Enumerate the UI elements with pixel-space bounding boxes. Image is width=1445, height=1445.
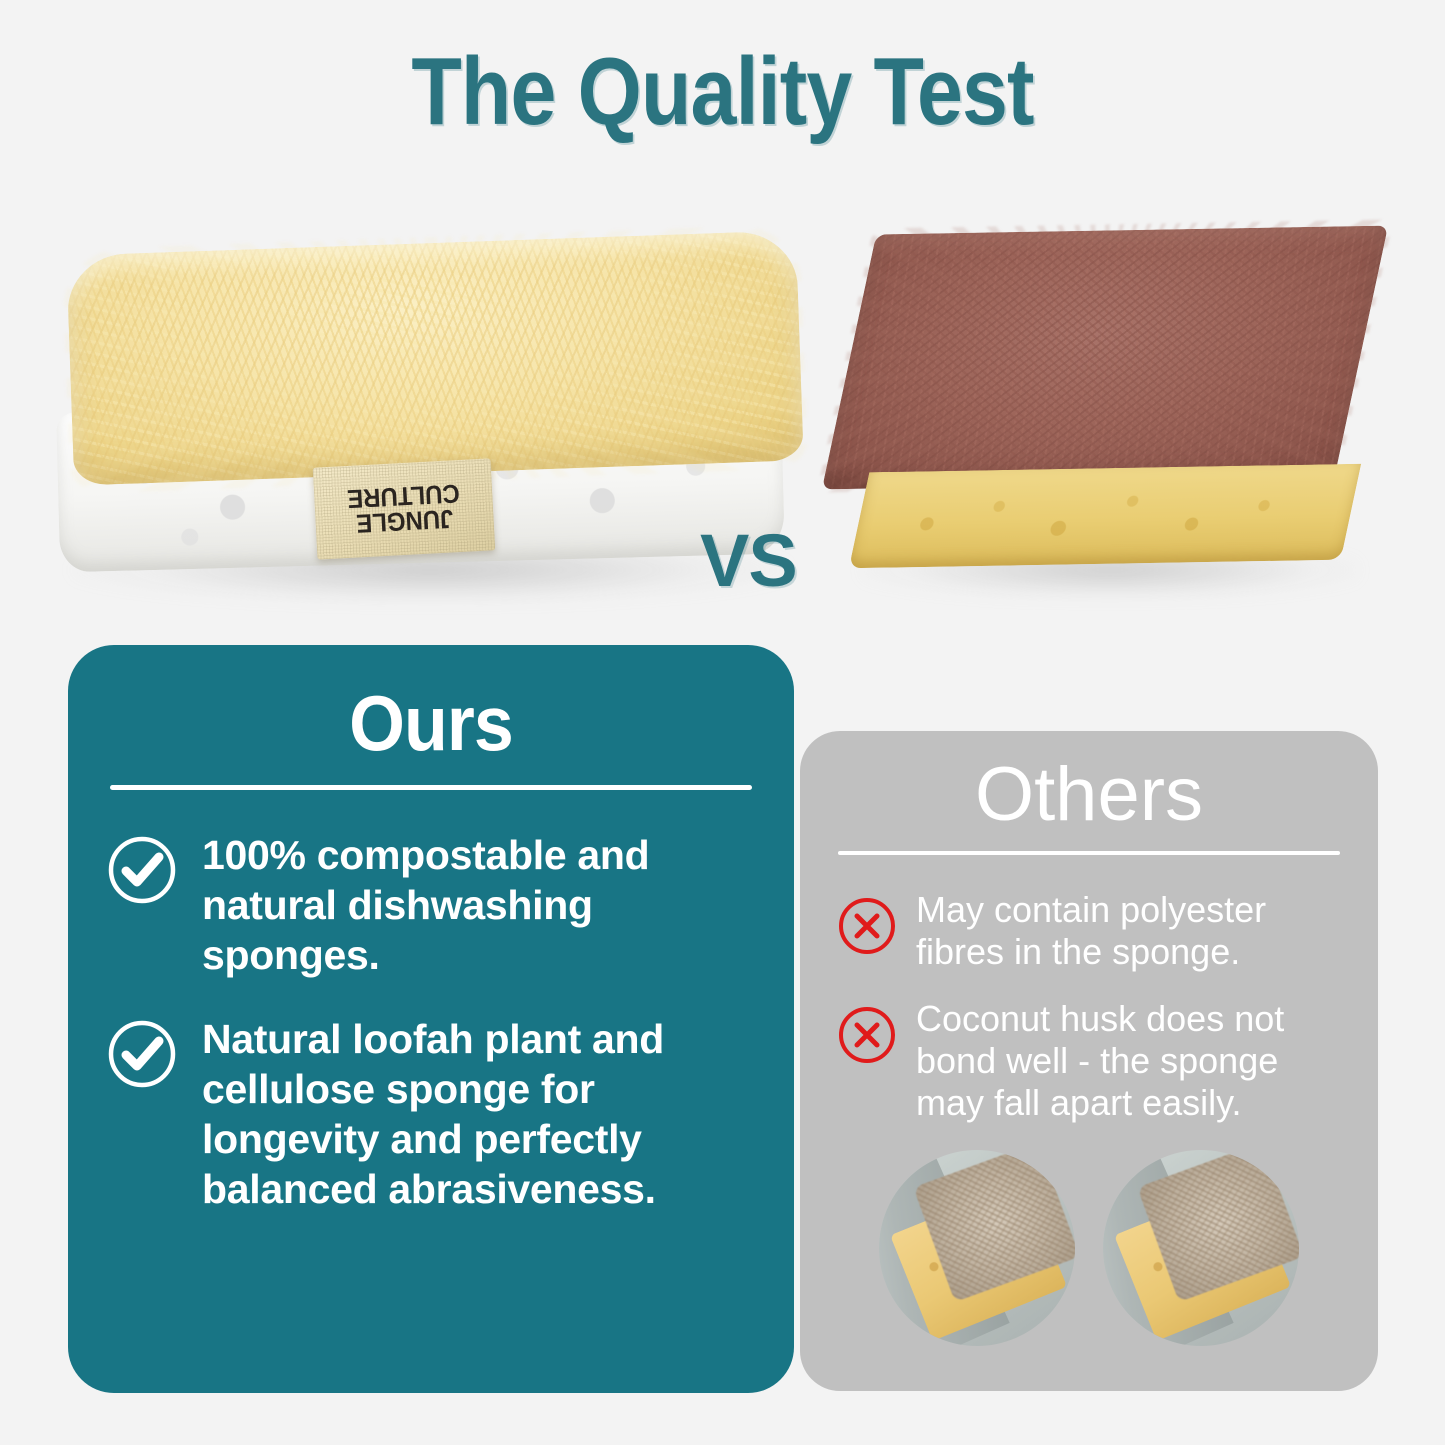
- x-circle-icon: [836, 1004, 898, 1066]
- ours-benefit-list: 100% compostable and natural dishwashing…: [102, 830, 760, 1214]
- ours-product-image: JUNGLE CULTURE: [40, 235, 810, 625]
- check-circle-icon: [106, 834, 178, 906]
- brand-label-tag: JUNGLE CULTURE: [313, 458, 496, 559]
- page-title: The Quality Test: [101, 44, 1344, 140]
- others-panel-heading: Others: [828, 755, 1350, 835]
- list-item: Coconut husk does not bond well - the sp…: [836, 998, 1350, 1123]
- evidence-photo-2: [1103, 1150, 1299, 1346]
- versus-label: VS: [700, 524, 797, 598]
- others-product-image: [840, 220, 1380, 620]
- others-drawback-list: May contain polyester fibres in the spon…: [828, 889, 1350, 1124]
- yellow-cellulose-layer: [849, 464, 1361, 569]
- loofah-fibre-texture: [62, 224, 808, 494]
- list-item-label: Natural loofah plant and cellulose spong…: [202, 1014, 760, 1214]
- ours-panel-divider: [110, 785, 752, 790]
- coir-fibre-texture: [817, 219, 1393, 492]
- others-panel: Others May contain polyester fibres in t…: [800, 731, 1378, 1391]
- ours-panel-heading: Ours: [128, 683, 733, 765]
- list-item: Natural loofah plant and cellulose spong…: [106, 1014, 760, 1214]
- list-item: 100% compostable and natural dishwashing…: [106, 830, 760, 980]
- brand-label-text: JUNGLE CULTURE: [347, 481, 462, 536]
- ours-panel: Ours 100% compostable and natural dishwa…: [68, 645, 794, 1393]
- evidence-photo-1: [879, 1150, 1075, 1346]
- list-item-label: May contain polyester fibres in the spon…: [916, 889, 1350, 973]
- evidence-photo-row: [828, 1150, 1350, 1346]
- list-item: May contain polyester fibres in the spon…: [836, 889, 1350, 973]
- list-item-label: Coconut husk does not bond well - the sp…: [916, 998, 1350, 1123]
- others-panel-divider: [838, 851, 1340, 855]
- check-circle-icon: [106, 1018, 178, 1090]
- x-circle-icon: [836, 895, 898, 957]
- list-item-label: 100% compostable and natural dishwashing…: [202, 830, 760, 980]
- brand-label-line-2: CULTURE: [346, 479, 460, 515]
